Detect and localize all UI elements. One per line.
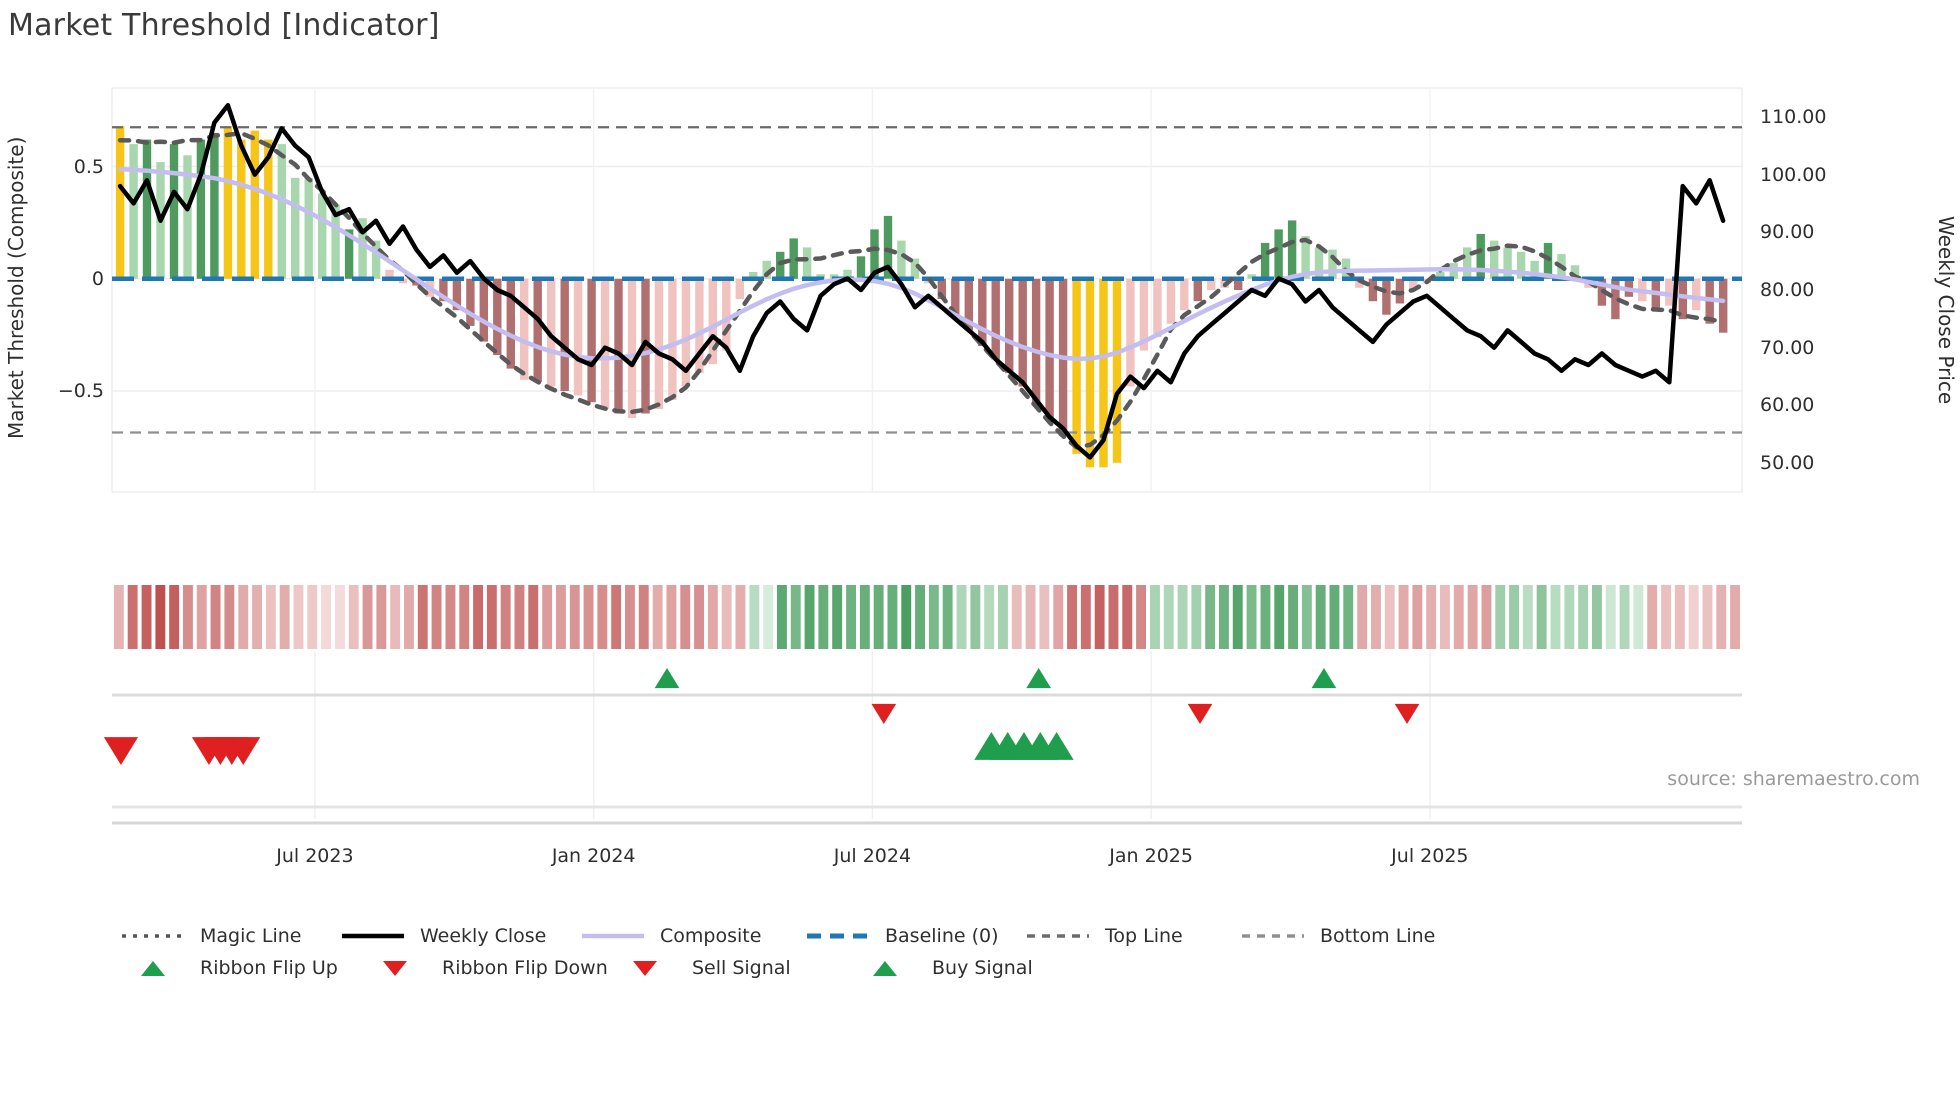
composite-bar[interactable] <box>1032 279 1040 402</box>
ribbon-flip-up-marker[interactable] <box>1026 668 1051 688</box>
composite-bar[interactable] <box>736 279 744 299</box>
legend-label: Ribbon Flip Up <box>200 957 338 979</box>
composite-bar[interactable] <box>1153 279 1161 337</box>
legend-item[interactable]: Magic Line <box>120 925 330 947</box>
ribbon-cell <box>1454 585 1464 649</box>
dashed-line-swatch <box>805 926 871 946</box>
ribbon-cell <box>1730 585 1740 649</box>
legend-label: Top Line <box>1105 925 1183 947</box>
ribbon-cell <box>224 585 234 649</box>
composite-bar[interactable] <box>803 247 811 278</box>
ribbon-cell <box>404 585 414 649</box>
ribbon-cell <box>1261 585 1271 649</box>
y-tick-right: 70.00 <box>1760 337 1814 359</box>
composite-bar[interactable] <box>1045 279 1053 418</box>
ribbon-cell <box>542 585 552 649</box>
ribbon-cell <box>1564 585 1574 649</box>
composite-bar[interactable] <box>668 279 676 400</box>
ribbon-flip-down-marker[interactable] <box>1395 704 1420 724</box>
ribbon-cell <box>1219 585 1229 649</box>
ribbon-cell <box>1592 585 1602 649</box>
ribbon-flip-down-marker[interactable] <box>1188 704 1213 724</box>
ribbon-cell <box>459 585 469 649</box>
ribbon-cell <box>197 585 207 649</box>
ribbon-cell <box>1578 585 1588 649</box>
triangle-up-icon <box>120 958 186 978</box>
ribbon-cell <box>142 585 152 649</box>
ribbon-cell <box>846 585 856 649</box>
triangle-up-icon <box>852 958 918 978</box>
composite-bar[interactable] <box>1005 279 1013 373</box>
legend-item[interactable]: Weekly Close <box>340 925 570 947</box>
composite-bar[interactable] <box>1328 250 1336 279</box>
y-tick-left: −0.5 <box>8 380 104 402</box>
ribbon-cell <box>1647 585 1657 649</box>
main-chart-plot[interactable] <box>112 88 1742 492</box>
y-tick-right: 100.00 <box>1760 164 1826 186</box>
ribbon-cell <box>1661 585 1671 649</box>
ribbon-cell <box>238 585 248 649</box>
ribbon-cell <box>1205 585 1215 649</box>
ribbon-cell <box>1620 585 1630 649</box>
ribbon-cell <box>128 585 138 649</box>
ribbon-cell <box>957 585 967 649</box>
ribbon-cell <box>1150 585 1160 649</box>
legend-label: Sell Signal <box>692 957 791 979</box>
legend-label: Weekly Close <box>420 925 546 947</box>
ribbon-cell <box>1468 585 1478 649</box>
ribbon-cell <box>639 585 649 649</box>
ribbon-cell <box>294 585 304 649</box>
ribbon-cell <box>1330 585 1340 649</box>
composite-bar[interactable] <box>1072 279 1080 454</box>
y-tick-right: 90.00 <box>1760 221 1814 243</box>
ribbon-cell <box>1426 585 1436 649</box>
chart-legend: Magic LineWeekly CloseCompositeBaseline … <box>120 925 1940 989</box>
ribbon-flip-up-marker[interactable] <box>655 668 680 688</box>
ribbon-cell <box>584 585 594 649</box>
ribbon-cell <box>1067 585 1077 649</box>
chart-svg <box>112 88 1742 492</box>
ribbon-cell <box>1081 585 1091 649</box>
composite-bar[interactable] <box>1194 279 1202 301</box>
legend-item[interactable]: Composite <box>580 925 795 947</box>
ribbon-cell <box>155 585 165 649</box>
solid-line-swatch <box>580 926 646 946</box>
ribbon-cell <box>998 585 1008 649</box>
ribbon-cell <box>777 585 787 649</box>
composite-bar[interactable] <box>520 279 528 380</box>
ribbon-cell <box>252 585 262 649</box>
composite-bar[interactable] <box>210 133 218 279</box>
ribbon-cell <box>708 585 718 649</box>
ribbon-cell <box>570 585 580 649</box>
dashed-line-swatch <box>1025 926 1091 946</box>
ribbon-cell <box>266 585 276 649</box>
ribbon-cell <box>307 585 317 649</box>
y-tick-left: 0.5 <box>8 156 104 178</box>
ribbon-cell <box>1122 585 1132 649</box>
ribbon-cell <box>1247 585 1257 649</box>
ribbon-cell <box>722 585 732 649</box>
ribbon-cell <box>667 585 677 649</box>
ribbon-cell <box>211 585 221 649</box>
composite-bar[interactable] <box>628 279 636 418</box>
legend-label: Buy Signal <box>932 957 1033 979</box>
ribbon-cell <box>432 585 442 649</box>
legend-label: Baseline (0) <box>885 925 999 947</box>
signal-markers-panel <box>112 655 1742 765</box>
composite-bar[interactable] <box>1180 279 1188 310</box>
composite-bar[interactable] <box>170 144 178 279</box>
y-tick-left: 0 <box>8 268 104 290</box>
ribbon-cell <box>1675 585 1685 649</box>
ribbon-cell <box>1385 585 1395 649</box>
ribbon-cell <box>1357 585 1367 649</box>
composite-bar[interactable] <box>709 279 717 364</box>
composite-bar[interactable] <box>992 279 1000 360</box>
ribbon-cell <box>321 585 331 649</box>
ribbon-flip-up-marker[interactable] <box>1312 668 1337 688</box>
composite-bar[interactable] <box>1719 279 1727 333</box>
composite-bar[interactable] <box>655 279 663 409</box>
ribbon-cell <box>1302 585 1312 649</box>
ribbon-cell <box>114 585 124 649</box>
x-axis-ticks: Jul 2023Jan 2024Jul 2024Jan 2025Jul 2025 <box>112 845 1742 885</box>
composite-bar[interactable] <box>587 279 595 402</box>
ribbon-cell <box>791 585 801 649</box>
ribbon-cell <box>501 585 511 649</box>
x-tick: Jan 2025 <box>1109 845 1193 867</box>
ribbon-cell <box>1233 585 1243 649</box>
composite-bar[interactable] <box>601 279 609 409</box>
ribbon-cell <box>349 585 359 649</box>
legend-item[interactable]: Ribbon Flip Up <box>120 957 352 979</box>
signals-svg <box>112 655 1742 823</box>
legend-item[interactable]: Buy Signal <box>852 957 1082 979</box>
composite-bar[interactable] <box>614 279 622 414</box>
y-tick-right: 110.00 <box>1760 106 1826 128</box>
ribbon-cell <box>335 585 345 649</box>
ribbon-cell <box>1039 585 1049 649</box>
composite-bar[interactable] <box>305 178 313 279</box>
ribbon-cell <box>929 585 939 649</box>
solid-line-swatch <box>340 926 406 946</box>
composite-bar[interactable] <box>143 140 151 279</box>
composite-bar[interactable] <box>1288 220 1296 278</box>
ribbon-cell <box>984 585 994 649</box>
composite-bar[interactable] <box>224 126 232 279</box>
composite-bar[interactable] <box>1086 279 1094 468</box>
composite-bar[interactable] <box>1382 279 1390 315</box>
y-axis-left-ticks: 0.50−0.5 <box>0 0 104 1102</box>
legend-item[interactable]: Sell Signal <box>612 957 842 979</box>
composite-bar[interactable] <box>1126 279 1134 387</box>
composite-bar[interactable] <box>574 279 582 396</box>
ribbon-cell <box>1633 585 1643 649</box>
ribbon-cell <box>1399 585 1409 649</box>
ribbon-cell <box>1412 585 1422 649</box>
composite-bar[interactable] <box>534 279 542 382</box>
y-tick-right: 80.00 <box>1760 279 1814 301</box>
ribbon-cell <box>888 585 898 649</box>
ribbon-cell <box>1343 585 1353 649</box>
sell-signal-marker[interactable] <box>104 737 138 765</box>
ribbon-cell <box>611 585 621 649</box>
legend-label: Magic Line <box>200 925 301 947</box>
ribbon-cell <box>1551 585 1561 649</box>
legend-item[interactable]: Bottom Line <box>1240 925 1450 947</box>
composite-bar[interactable] <box>237 140 245 279</box>
ribbon-cell <box>1178 585 1188 649</box>
ribbon-cell <box>1371 585 1381 649</box>
ribbon-cell <box>473 585 483 649</box>
legend-label: Bottom Line <box>1320 925 1435 947</box>
ribbon-cell <box>1274 585 1284 649</box>
ribbon-cell <box>1191 585 1201 649</box>
ribbon-cell <box>1053 585 1063 649</box>
ribbon-cell <box>874 585 884 649</box>
ribbon-cell <box>860 585 870 649</box>
ribbon-cell <box>1537 585 1547 649</box>
y-tick-right: 50.00 <box>1760 452 1814 474</box>
composite-bar[interactable] <box>857 256 865 278</box>
ribbon-cell <box>818 585 828 649</box>
x-tick: Jul 2024 <box>834 845 911 867</box>
composite-bar[interactable] <box>1692 279 1700 310</box>
legend-item[interactable]: Top Line <box>1025 925 1230 947</box>
ribbon-cell <box>280 585 290 649</box>
x-tick: Jul 2023 <box>276 845 353 867</box>
legend-row-markers: Ribbon Flip UpRibbon Flip DownSell Signa… <box>120 957 1940 979</box>
ribbon-cell <box>749 585 759 649</box>
ribbon-cell <box>376 585 386 649</box>
composite-bar[interactable] <box>1274 229 1282 278</box>
ribbon-cell <box>901 585 911 649</box>
ribbon-cell <box>1703 585 1713 649</box>
ribbon-cell <box>1495 585 1505 649</box>
ribbon-cell <box>169 585 179 649</box>
source-note: source: sharemaestro.com <box>1667 768 1920 790</box>
ribbon-cell <box>694 585 704 649</box>
dotted-line-swatch <box>120 926 186 946</box>
composite-bar[interactable] <box>1019 279 1027 387</box>
legend-item[interactable]: Baseline (0) <box>805 925 1015 947</box>
composite-bar[interactable] <box>251 131 259 279</box>
ribbon-cell <box>1523 585 1533 649</box>
ribbon-cell <box>1716 585 1726 649</box>
composite-bar[interactable] <box>1113 279 1121 463</box>
ribbon-cell <box>1095 585 1105 649</box>
composite-bar[interactable] <box>480 279 488 342</box>
ribbon-cell <box>736 585 746 649</box>
ribbon-cell <box>1109 585 1119 649</box>
ribbon-cell <box>1482 585 1492 649</box>
y-axis-right-label: Weekly Close Price <box>1934 100 1958 520</box>
ribbon-cell <box>625 585 635 649</box>
composite-bar[interactable] <box>466 279 474 326</box>
legend-item[interactable]: Ribbon Flip Down <box>362 957 602 979</box>
ribbon-cell <box>487 585 497 649</box>
ribbon-cell <box>653 585 663 649</box>
ribbon-cell <box>832 585 842 649</box>
ribbon-cell <box>1012 585 1022 649</box>
legend-label: Ribbon Flip Down <box>442 957 608 979</box>
legend-row-lines: Magic LineWeekly CloseCompositeBaseline … <box>120 925 1940 947</box>
y-tick-right: 60.00 <box>1760 394 1814 416</box>
ribbon-cell <box>1689 585 1699 649</box>
ribbon-cell <box>1440 585 1450 649</box>
ribbon-cell <box>915 585 925 649</box>
legend-label: Composite <box>660 925 761 947</box>
ribbon-cell <box>680 585 690 649</box>
ribbon-cell <box>1316 585 1326 649</box>
ribbon-cell <box>1026 585 1036 649</box>
composite-bar[interactable] <box>129 144 137 279</box>
x-tick: Jul 2025 <box>1391 845 1468 867</box>
composite-bar[interactable] <box>897 241 905 279</box>
ribbon-cell <box>1509 585 1519 649</box>
ribbon-cell <box>1136 585 1146 649</box>
ribbon-flip-down-marker[interactable] <box>871 704 896 724</box>
composite-bar[interactable] <box>978 279 986 346</box>
composite-bar[interactable] <box>291 178 299 279</box>
composite-bar[interactable] <box>722 279 730 351</box>
ribbon-cell <box>597 585 607 649</box>
ribbon-cell <box>446 585 456 649</box>
ribbon-cell <box>390 585 400 649</box>
composite-bar[interactable] <box>561 279 569 391</box>
ribbon-cell <box>556 585 566 649</box>
ribbon-cell <box>528 585 538 649</box>
composite-bar[interactable] <box>1167 279 1175 324</box>
dashed-line-swatch <box>1240 926 1306 946</box>
composite-bar[interactable] <box>116 126 124 279</box>
x-tick: Jan 2024 <box>552 845 636 867</box>
ribbon-heatmap-strip <box>112 583 1742 651</box>
ribbon-cell <box>1288 585 1298 649</box>
triangle-down-icon <box>362 958 428 978</box>
ribbon-cell <box>943 585 953 649</box>
ribbon-cell <box>805 585 815 649</box>
composite-bar[interactable] <box>1261 243 1269 279</box>
ribbon-cell <box>418 585 428 649</box>
ribbon-svg <box>112 583 1742 651</box>
ribbon-cell <box>363 585 373 649</box>
ribbon-cell <box>183 585 193 649</box>
ribbon-cell <box>1164 585 1174 649</box>
plot-background <box>112 88 1742 492</box>
composite-bar[interactable] <box>278 144 286 279</box>
ribbon-cell <box>515 585 525 649</box>
triangle-down-icon <box>612 958 678 978</box>
ribbon-cell <box>1606 585 1616 649</box>
ribbon-cell <box>970 585 980 649</box>
composite-bar[interactable] <box>318 194 326 279</box>
ribbon-cell <box>763 585 773 649</box>
